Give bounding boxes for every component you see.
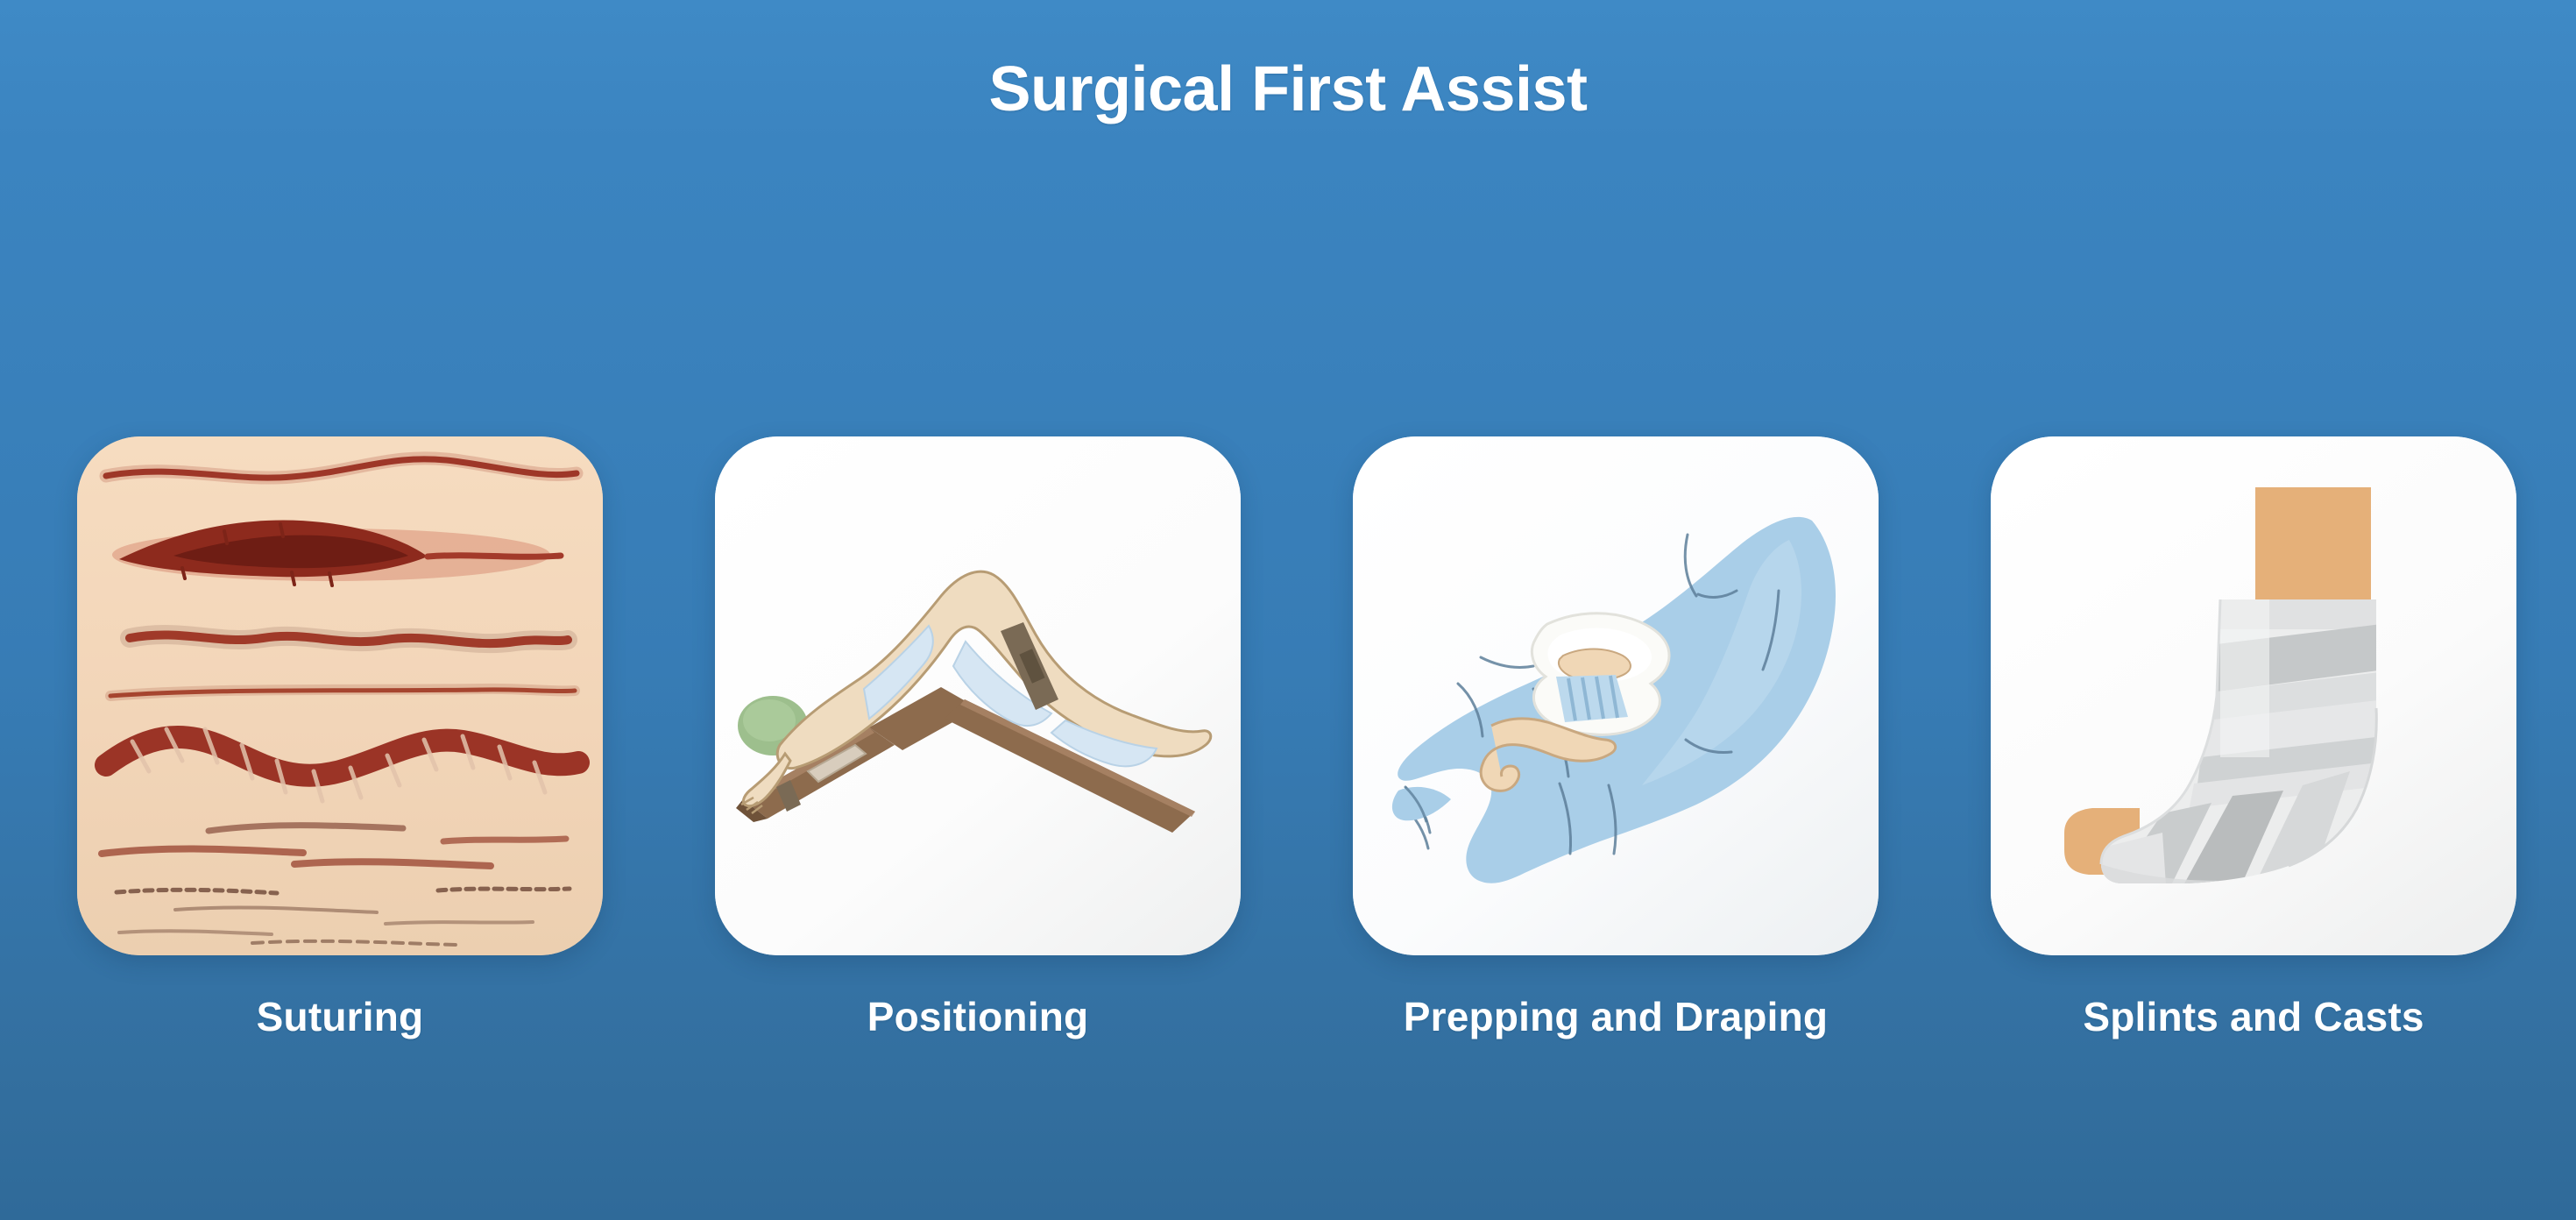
card-splints-and-casts[interactable]: Splints and Casts <box>1991 436 2516 1038</box>
wound-lacerations-illustration <box>77 436 603 955</box>
bandaged-foot-cast-illustration <box>1991 436 2516 955</box>
page-title: Surgical First Assist <box>0 58 2576 121</box>
card-image-splints-and-casts[interactable] <box>1991 436 2516 955</box>
card-image-suturing[interactable] <box>77 436 603 955</box>
card-image-positioning[interactable] <box>715 436 1241 955</box>
card-label-prepping-and-draping: Prepping and Draping <box>1404 996 1828 1038</box>
card-label-splints-and-casts: Splints and Casts <box>2083 996 2424 1038</box>
card-prepping-and-draping[interactable]: Prepping and Draping <box>1353 436 1879 1038</box>
category-card-row: Suturing <box>77 436 2516 1085</box>
card-label-suturing: Suturing <box>257 996 424 1038</box>
card-label-positioning: Positioning <box>867 996 1089 1038</box>
card-positioning[interactable]: Positioning <box>715 436 1241 1038</box>
card-suturing[interactable]: Suturing <box>77 436 603 1038</box>
patient-jackknife-position-illustration <box>715 436 1241 955</box>
surgical-drapes-illustration <box>1353 436 1879 955</box>
card-image-prepping-and-draping[interactable] <box>1353 436 1879 955</box>
